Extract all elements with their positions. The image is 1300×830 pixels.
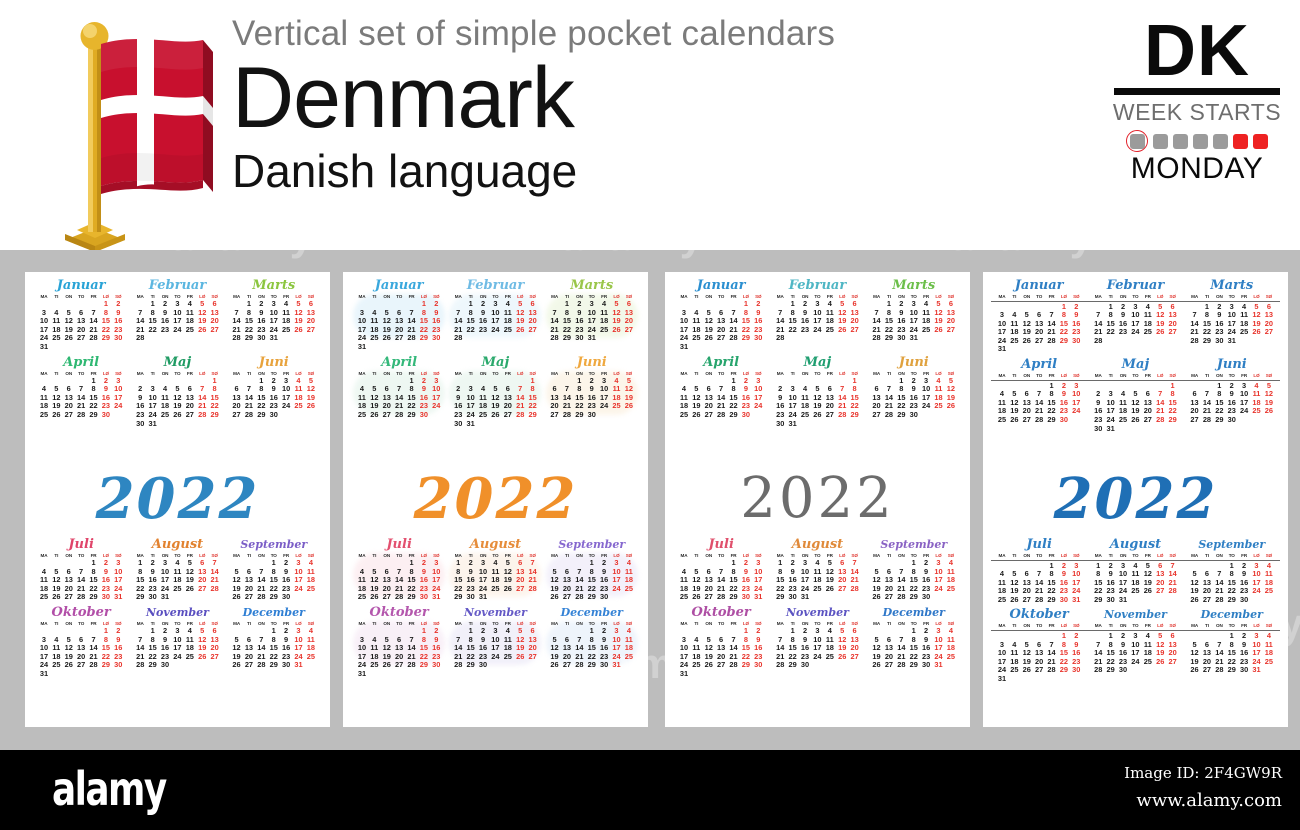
- day-cell[interactable]: 27: [208, 326, 220, 335]
- day-cell[interactable]: 29: [786, 661, 798, 670]
- month-block-september[interactable]: SeptemberMATIONTOFRLØSØ...12345678910111…: [1184, 537, 1280, 604]
- day-cell[interactable]: 31: [477, 593, 489, 602]
- day-cell[interactable]: 28: [1092, 666, 1104, 675]
- day-cell[interactable]: 27: [1263, 328, 1275, 337]
- day-cell[interactable]: 24: [811, 653, 823, 662]
- day-cell[interactable]: 23: [477, 326, 489, 335]
- day-cell[interactable]: 30: [268, 411, 280, 420]
- month-block-maj[interactable]: MajMATIONTOFRLØSØ......12345678910111213…: [129, 355, 225, 429]
- day-cell[interactable]: 25: [1263, 658, 1275, 667]
- day-cell[interactable]: 27: [526, 326, 538, 335]
- day-cell[interactable]: 29: [561, 334, 573, 343]
- day-cell[interactable]: 27: [63, 411, 75, 420]
- day-cell[interactable]: 25: [1238, 328, 1250, 337]
- day-cell[interactable]: 26: [1154, 658, 1166, 667]
- day-cell[interactable]: 28: [1033, 596, 1045, 605]
- month-block-februar[interactable]: FebruarMATIONTOFRLØSØ.123456789101112131…: [1087, 278, 1183, 354]
- day-cell[interactable]: 26: [1021, 337, 1033, 346]
- day-cell[interactable]: 30: [1226, 416, 1238, 425]
- day-cell[interactable]: 25: [184, 326, 196, 335]
- month-block-maj[interactable]: MajMATIONTOFRLØSØ......12345678910111213…: [1087, 357, 1183, 433]
- day-cell[interactable]: 24: [811, 326, 823, 335]
- day-cell[interactable]: 29: [908, 661, 920, 670]
- day-cell[interactable]: 28: [573, 661, 585, 670]
- day-cell[interactable]: 27: [196, 585, 208, 594]
- day-cell[interactable]: 28: [1045, 666, 1057, 675]
- day-cell[interactable]: 27: [1033, 337, 1045, 346]
- day-cell[interactable]: 26: [1142, 587, 1154, 596]
- day-cell[interactable]: 26: [1008, 416, 1020, 425]
- day-cell[interactable]: 24: [598, 402, 610, 411]
- day-cell[interactable]: 31: [112, 593, 124, 602]
- day-cell[interactable]: 25: [305, 585, 317, 594]
- day-cell[interactable]: 25: [824, 326, 836, 335]
- day-cell[interactable]: 29: [727, 411, 739, 420]
- day-cell[interactable]: 28: [895, 661, 907, 670]
- day-cell[interactable]: 31: [464, 420, 476, 429]
- day-cell[interactable]: 30: [430, 661, 442, 670]
- day-cell[interactable]: 27: [1166, 658, 1178, 667]
- day-cell[interactable]: 30: [418, 411, 430, 420]
- month-block-maj[interactable]: MajMATIONTOFRLØSØ......12345678910111213…: [769, 355, 865, 429]
- day-cell[interactable]: 31: [159, 593, 171, 602]
- day-cell[interactable]: 29: [1058, 337, 1070, 346]
- month-block-marts[interactable]: MartsMATIONTOFRLØSØ.12345678910111213141…: [226, 278, 322, 352]
- month-block-november[interactable]: NovemberMATIONTOFRLØSØ.12345678910111213…: [447, 605, 543, 679]
- day-cell[interactable]: 26: [196, 653, 208, 662]
- day-cell[interactable]: 26: [514, 326, 526, 335]
- day-cell[interactable]: 27: [514, 585, 526, 594]
- day-cell[interactable]: 28: [1045, 337, 1057, 346]
- day-cell[interactable]: 26: [703, 334, 715, 343]
- month-block-marts[interactable]: MartsMATIONTOFRLØSØ.12345678910111213141…: [544, 278, 640, 352]
- day-cell[interactable]: 30: [159, 661, 171, 670]
- day-cell[interactable]: 31: [586, 334, 598, 343]
- day-cell[interactable]: 28: [87, 661, 99, 670]
- day-cell[interactable]: 27: [715, 334, 727, 343]
- day-cell[interactable]: 25: [920, 326, 932, 335]
- day-cell[interactable]: 31: [1226, 337, 1238, 346]
- day-cell[interactable]: 27: [561, 661, 573, 670]
- month-block-april[interactable]: AprilMATIONTOFRLØSØ....12345678910111213…: [351, 355, 447, 429]
- day-cell[interactable]: 28: [75, 593, 87, 602]
- day-cell[interactable]: 27: [75, 661, 87, 670]
- day-cell[interactable]: 27: [1188, 416, 1200, 425]
- day-cell[interactable]: 26: [489, 411, 501, 420]
- day-cell[interactable]: 31: [786, 420, 798, 429]
- day-cell[interactable]: 28: [848, 585, 860, 594]
- day-cell[interactable]: 26: [292, 326, 304, 335]
- day-cell[interactable]: 27: [1201, 666, 1213, 675]
- day-cell[interactable]: 31: [268, 334, 280, 343]
- month-block-januar[interactable]: JanuarMATIONTOFRLØSØ.....123456789101112…: [673, 278, 769, 352]
- day-cell[interactable]: 24: [752, 402, 764, 411]
- day-cell[interactable]: 26: [548, 661, 560, 670]
- day-cell[interactable]: 26: [368, 593, 380, 602]
- day-cell[interactable]: 26: [368, 411, 380, 420]
- day-cell[interactable]: 29: [1213, 416, 1225, 425]
- day-cell[interactable]: 25: [502, 653, 514, 662]
- day-cell[interactable]: 25: [1117, 416, 1129, 425]
- day-cell[interactable]: 27: [1142, 416, 1154, 425]
- day-cell[interactable]: 29: [134, 593, 146, 602]
- day-cell[interactable]: 29: [418, 661, 430, 670]
- day-cell[interactable]: 25: [502, 326, 514, 335]
- day-cell[interactable]: 26: [502, 585, 514, 594]
- day-cell[interactable]: 30: [464, 593, 476, 602]
- day-cell[interactable]: 24: [430, 402, 442, 411]
- day-cell[interactable]: 27: [208, 653, 220, 662]
- day-cell[interactable]: 31: [38, 343, 50, 352]
- day-cell[interactable]: 24: [489, 326, 501, 335]
- day-cell[interactable]: 25: [50, 334, 62, 343]
- day-cell[interactable]: 30: [112, 334, 124, 343]
- day-cell[interactable]: 27: [703, 411, 715, 420]
- day-cell[interactable]: 28: [405, 334, 417, 343]
- day-cell[interactable]: 28: [208, 585, 220, 594]
- day-cell[interactable]: 26: [230, 661, 242, 670]
- day-cell[interactable]: 30: [452, 420, 464, 429]
- day-cell[interactable]: 29: [883, 334, 895, 343]
- day-cell[interactable]: 29: [1045, 416, 1057, 425]
- day-cell[interactable]: 26: [836, 653, 848, 662]
- day-cell[interactable]: 29: [418, 334, 430, 343]
- day-cell[interactable]: 29: [1226, 596, 1238, 605]
- day-cell[interactable]: 24: [171, 326, 183, 335]
- day-cell[interactable]: 27: [502, 411, 514, 420]
- day-cell[interactable]: 24: [171, 653, 183, 662]
- day-cell[interactable]: 25: [1250, 407, 1262, 416]
- day-cell[interactable]: 28: [1033, 416, 1045, 425]
- day-cell[interactable]: 30: [786, 593, 798, 602]
- calendar-card-card-blue-uniform[interactable]: JanuarMATIONTOFRLØSØ.....123456789101112…: [983, 272, 1288, 727]
- day-cell[interactable]: 30: [100, 411, 112, 420]
- month-block-september[interactable]: SeptemberMATIONTOFRLØSØ...12345678910111…: [866, 537, 962, 602]
- day-cell[interactable]: 27: [1154, 587, 1166, 596]
- day-cell[interactable]: 30: [134, 420, 146, 429]
- day-cell[interactable]: 28: [405, 661, 417, 670]
- day-cell[interactable]: 29: [740, 334, 752, 343]
- day-cell[interactable]: 26: [184, 585, 196, 594]
- day-cell[interactable]: 23: [1117, 328, 1129, 337]
- month-block-september[interactable]: SeptemberMATIONTOFRLØSØ...12345678910111…: [544, 537, 640, 602]
- day-cell[interactable]: 26: [824, 585, 836, 594]
- day-cell[interactable]: 29: [586, 661, 598, 670]
- day-cell[interactable]: 26: [230, 593, 242, 602]
- day-cell[interactable]: 31: [752, 593, 764, 602]
- day-cell[interactable]: 27: [243, 593, 255, 602]
- day-cell[interactable]: 30: [573, 334, 585, 343]
- day-cell[interactable]: 30: [477, 661, 489, 670]
- day-cell[interactable]: 28: [561, 411, 573, 420]
- day-cell[interactable]: 27: [393, 334, 405, 343]
- day-cell[interactable]: 24: [932, 585, 944, 594]
- month-block-december[interactable]: DecemberMATIONTOFRLØSØ...123456789101112…: [866, 605, 962, 679]
- day-cell[interactable]: 28: [393, 411, 405, 420]
- month-block-januar[interactable]: JanuarMATIONTOFRLØSØ.....123456789101112…: [351, 278, 447, 352]
- day-cell[interactable]: 25: [1142, 658, 1154, 667]
- day-cell[interactable]: 27: [1201, 596, 1213, 605]
- day-cell[interactable]: 26: [381, 334, 393, 343]
- day-cell[interactable]: 28: [573, 593, 585, 602]
- day-cell[interactable]: 25: [489, 585, 501, 594]
- day-cell[interactable]: 29: [146, 661, 158, 670]
- day-cell[interactable]: 26: [514, 653, 526, 662]
- month-block-februar[interactable]: FebruarMATIONTOFRLØSØ.123456789101112131…: [129, 278, 225, 352]
- month-block-september[interactable]: SeptemberMATIONTOFRLØSØ...12345678910111…: [226, 537, 322, 602]
- day-cell[interactable]: 31: [356, 343, 368, 352]
- month-block-oktober[interactable]: OktoberMATIONTOFRLØSØ.....12345678910111…: [351, 605, 447, 679]
- day-cell[interactable]: 26: [1263, 407, 1275, 416]
- day-cell[interactable]: 31: [430, 593, 442, 602]
- day-cell[interactable]: 28: [1166, 587, 1178, 596]
- day-cell[interactable]: 29: [243, 334, 255, 343]
- month-block-juni[interactable]: JuniMATIONTOFRLØSØ..12345678910111213141…: [1184, 357, 1280, 433]
- day-cell[interactable]: 31: [908, 334, 920, 343]
- day-cell[interactable]: 27: [1021, 416, 1033, 425]
- day-cell[interactable]: 29: [895, 411, 907, 420]
- day-cell[interactable]: 29: [727, 593, 739, 602]
- day-cell[interactable]: 30: [740, 411, 752, 420]
- month-block-april[interactable]: AprilMATIONTOFRLØSØ....12345678910111213…: [991, 357, 1087, 433]
- day-cell[interactable]: 28: [774, 661, 786, 670]
- day-cell[interactable]: 31: [678, 670, 690, 679]
- day-cell[interactable]: 29: [452, 593, 464, 602]
- day-cell[interactable]: 27: [1166, 328, 1178, 337]
- day-cell[interactable]: 27: [715, 661, 727, 670]
- day-cell[interactable]: 25: [945, 585, 957, 594]
- month-block-juli[interactable]: JuliMATIONTOFRLØSØ....123456789101112131…: [351, 537, 447, 602]
- day-cell[interactable]: 26: [836, 326, 848, 335]
- day-cell[interactable]: 24: [610, 585, 622, 594]
- day-cell[interactable]: 30: [100, 593, 112, 602]
- calendar-card-card-pastel-script[interactable]: JanuarMATIONTOFRLØSØ.....123456789101112…: [25, 272, 330, 727]
- day-cell[interactable]: 29: [573, 411, 585, 420]
- day-cell[interactable]: 22: [1104, 328, 1116, 337]
- day-cell[interactable]: 29: [405, 411, 417, 420]
- day-cell[interactable]: 31: [38, 670, 50, 679]
- day-cell[interactable]: 28: [87, 334, 99, 343]
- day-cell[interactable]: 25: [610, 402, 622, 411]
- day-cell[interactable]: 26: [1250, 328, 1262, 337]
- day-cell[interactable]: 26: [171, 411, 183, 420]
- day-cell[interactable]: 25: [38, 411, 50, 420]
- day-cell[interactable]: 29: [87, 593, 99, 602]
- month-block-april[interactable]: AprilMATIONTOFRLØSØ....12345678910111213…: [33, 355, 129, 429]
- day-cell[interactable]: 22: [786, 326, 798, 335]
- day-cell[interactable]: 26: [50, 411, 62, 420]
- day-cell[interactable]: 22: [146, 326, 158, 335]
- day-cell[interactable]: 26: [870, 593, 882, 602]
- day-cell[interactable]: 29: [1092, 596, 1104, 605]
- month-block-august[interactable]: AugustMATIONTOFRLØSØ12345678910111213141…: [447, 537, 543, 602]
- day-cell[interactable]: 25: [368, 334, 380, 343]
- day-cell[interactable]: 28: [715, 411, 727, 420]
- day-cell[interactable]: 30: [598, 661, 610, 670]
- day-cell[interactable]: 28: [255, 593, 267, 602]
- day-cell[interactable]: 25: [690, 661, 702, 670]
- day-cell[interactable]: 29: [526, 411, 538, 420]
- month-block-juli[interactable]: JuliMATIONTOFRLØSØ....123456789101112131…: [33, 537, 129, 602]
- day-cell[interactable]: 30: [1070, 666, 1082, 675]
- day-cell[interactable]: 28: [727, 334, 739, 343]
- day-cell[interactable]: 27: [63, 593, 75, 602]
- month-block-april[interactable]: AprilMATIONTOFRLØSØ....12345678910111213…: [673, 355, 769, 429]
- calendar-card-card-watercolor[interactable]: JanuarMATIONTOFRLØSØ.....123456789101112…: [343, 272, 648, 727]
- day-cell[interactable]: 28: [727, 661, 739, 670]
- day-cell[interactable]: 25: [996, 416, 1008, 425]
- day-cell[interactable]: 29: [848, 411, 860, 420]
- day-cell[interactable]: 25: [945, 653, 957, 662]
- day-cell[interactable]: 27: [836, 585, 848, 594]
- day-cell[interactable]: 27: [848, 326, 860, 335]
- day-cell[interactable]: 26: [690, 593, 702, 602]
- day-cell[interactable]: 28: [1154, 416, 1166, 425]
- day-cell[interactable]: 25: [159, 411, 171, 420]
- day-cell[interactable]: 30: [1213, 337, 1225, 346]
- day-cell[interactable]: 30: [752, 334, 764, 343]
- day-cell[interactable]: 28: [1188, 337, 1200, 346]
- day-cell[interactable]: 28: [230, 334, 242, 343]
- month-block-november[interactable]: NovemberMATIONTOFRLØSØ.12345678910111213…: [769, 605, 865, 679]
- month-block-december[interactable]: DecemberMATIONTOFRLØSØ...123456789101112…: [1184, 607, 1280, 683]
- day-cell[interactable]: 29: [908, 593, 920, 602]
- day-cell[interactable]: 28: [1201, 416, 1213, 425]
- day-cell[interactable]: 25: [811, 585, 823, 594]
- day-cell[interactable]: 27: [393, 661, 405, 670]
- day-cell[interactable]: 26: [1188, 666, 1200, 675]
- day-cell[interactable]: 27: [848, 653, 860, 662]
- day-cell[interactable]: 30: [895, 334, 907, 343]
- day-cell[interactable]: 30: [586, 411, 598, 420]
- day-cell[interactable]: 30: [1117, 666, 1129, 675]
- day-cell[interactable]: 31: [996, 345, 1008, 354]
- day-cell[interactable]: 24: [1238, 407, 1250, 416]
- day-cell[interactable]: 30: [598, 593, 610, 602]
- day-cell[interactable]: 25: [1263, 587, 1275, 596]
- day-cell[interactable]: 25: [184, 653, 196, 662]
- day-cell[interactable]: 26: [945, 402, 957, 411]
- day-cell[interactable]: 30: [774, 420, 786, 429]
- day-cell[interactable]: 31: [799, 593, 811, 602]
- day-cell[interactable]: 24: [1250, 587, 1262, 596]
- day-cell[interactable]: 28: [774, 334, 786, 343]
- day-cell[interactable]: 26: [703, 661, 715, 670]
- day-cell[interactable]: 31: [932, 661, 944, 670]
- day-cell[interactable]: 24: [292, 585, 304, 594]
- day-cell[interactable]: 25: [292, 402, 304, 411]
- day-cell[interactable]: 26: [63, 661, 75, 670]
- day-cell[interactable]: 29: [100, 661, 112, 670]
- day-cell[interactable]: 26: [1008, 596, 1020, 605]
- day-cell[interactable]: 28: [1213, 596, 1225, 605]
- day-cell[interactable]: 28: [243, 411, 255, 420]
- day-cell[interactable]: 25: [50, 661, 62, 670]
- day-cell[interactable]: 26: [1021, 666, 1033, 675]
- month-block-august[interactable]: AugustMATIONTOFRLØSØ12345678910111213141…: [769, 537, 865, 602]
- day-cell[interactable]: 23: [159, 326, 171, 335]
- day-cell[interactable]: 25: [477, 411, 489, 420]
- day-cell[interactable]: 29: [100, 334, 112, 343]
- month-block-oktober[interactable]: OktoberMATIONTOFRLØSØ.....12345678910111…: [991, 607, 1087, 683]
- day-cell[interactable]: 30: [1092, 425, 1104, 434]
- month-block-oktober[interactable]: OktoberMATIONTOFRLØSØ.....12345678910111…: [673, 605, 769, 679]
- day-cell[interactable]: 31: [1250, 666, 1262, 675]
- day-cell[interactable]: 25: [824, 653, 836, 662]
- month-block-december[interactable]: DecemberMATIONTOFRLØSØ...123456789101112…: [226, 605, 322, 679]
- month-block-marts[interactable]: MartsMATIONTOFRLØSØ.12345678910111213141…: [866, 278, 962, 352]
- day-cell[interactable]: 24: [280, 402, 292, 411]
- day-cell[interactable]: 27: [703, 593, 715, 602]
- day-cell[interactable]: 27: [243, 661, 255, 670]
- day-cell[interactable]: 28: [393, 593, 405, 602]
- day-cell[interactable]: 25: [38, 593, 50, 602]
- day-cell[interactable]: 25: [690, 334, 702, 343]
- day-cell[interactable]: 28: [1213, 666, 1225, 675]
- day-cell[interactable]: 31: [146, 420, 158, 429]
- day-cell[interactable]: 28: [452, 334, 464, 343]
- day-cell[interactable]: 28: [514, 411, 526, 420]
- day-cell[interactable]: 29: [208, 411, 220, 420]
- day-cell[interactable]: 26: [690, 411, 702, 420]
- day-cell[interactable]: 26: [196, 326, 208, 335]
- day-cell[interactable]: 25: [932, 402, 944, 411]
- day-cell[interactable]: 24: [112, 402, 124, 411]
- day-cell[interactable]: 28: [1092, 337, 1104, 346]
- month-block-marts[interactable]: MartsMATIONTOFRLØSØ.12345678910111213141…: [1184, 278, 1280, 354]
- day-cell[interactable]: 25: [368, 661, 380, 670]
- day-cell[interactable]: 30: [752, 661, 764, 670]
- month-block-juli[interactable]: JuliMATIONTOFRLØSØ....123456789101112131…: [673, 537, 769, 602]
- day-cell[interactable]: 29: [586, 593, 598, 602]
- month-block-maj[interactable]: MajMATIONTOFRLØSØ......12345678910111213…: [447, 355, 543, 429]
- day-cell[interactable]: 25: [623, 653, 635, 662]
- day-cell[interactable]: 27: [561, 593, 573, 602]
- day-cell[interactable]: 27: [883, 593, 895, 602]
- day-cell[interactable]: 30: [430, 334, 442, 343]
- day-cell[interactable]: 27: [883, 661, 895, 670]
- day-cell[interactable]: 25: [1142, 328, 1154, 337]
- day-cell[interactable]: 24: [489, 653, 501, 662]
- day-cell[interactable]: 29: [1104, 666, 1116, 675]
- day-cell[interactable]: 28: [255, 661, 267, 670]
- day-cell[interactable]: 31: [996, 675, 1008, 684]
- month-block-februar[interactable]: FebruarMATIONTOFRLØSØ.123456789101112131…: [769, 278, 865, 352]
- day-cell[interactable]: 30: [908, 411, 920, 420]
- day-cell[interactable]: 30: [1238, 666, 1250, 675]
- day-cell[interactable]: 30: [799, 661, 811, 670]
- day-cell[interactable]: 27: [381, 593, 393, 602]
- day-cell[interactable]: 28: [548, 334, 560, 343]
- day-cell[interactable]: 29: [1058, 666, 1070, 675]
- day-cell[interactable]: 30: [112, 661, 124, 670]
- day-cell[interactable]: 27: [824, 411, 836, 420]
- day-cell[interactable]: 26: [1129, 416, 1141, 425]
- day-cell[interactable]: 26: [1154, 328, 1166, 337]
- day-cell[interactable]: 29: [87, 411, 99, 420]
- day-cell[interactable]: 28: [75, 411, 87, 420]
- day-cell[interactable]: 24: [1070, 407, 1082, 416]
- day-cell[interactable]: 30: [255, 334, 267, 343]
- day-cell[interactable]: 25: [1129, 587, 1141, 596]
- day-cell[interactable]: 29: [405, 593, 417, 602]
- day-cell[interactable]: 30: [1104, 596, 1116, 605]
- day-cell[interactable]: 29: [255, 411, 267, 420]
- day-cell[interactable]: 28: [134, 334, 146, 343]
- day-cell[interactable]: 30: [280, 593, 292, 602]
- day-cell[interactable]: 25: [171, 585, 183, 594]
- day-cell[interactable]: 25: [356, 411, 368, 420]
